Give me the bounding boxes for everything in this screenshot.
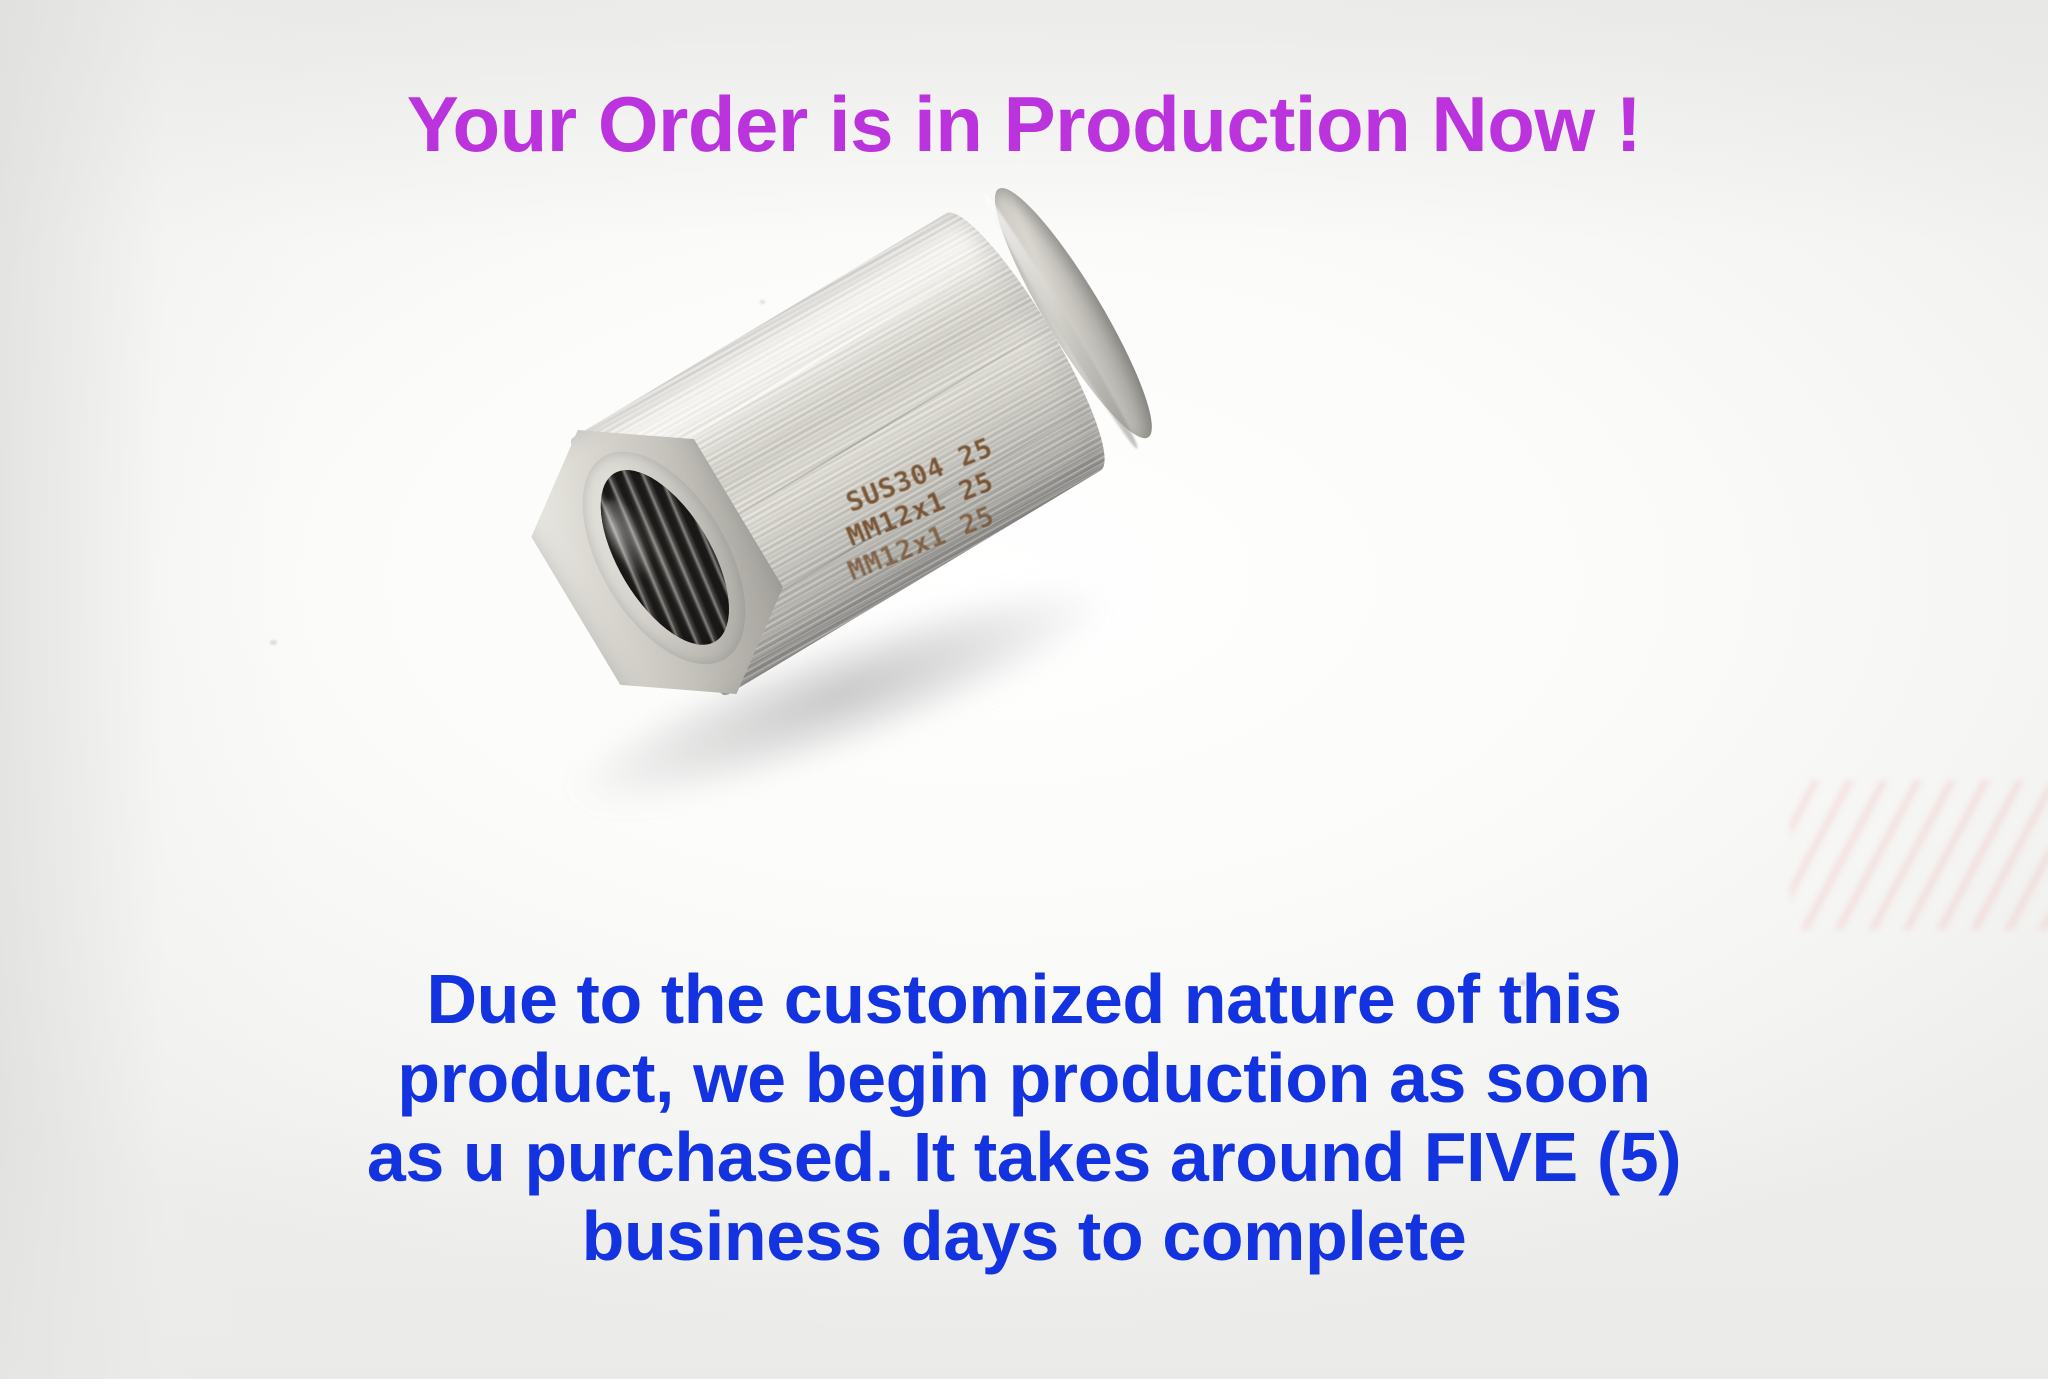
promo-message-line: product, we begin production as soon bbox=[0, 1039, 2048, 1118]
promo-message-line: Due to the customized nature of this bbox=[0, 960, 2048, 1039]
promo-banner: Your Order is in Production Now ! bbox=[0, 0, 2048, 1379]
page-title: Your Order is in Production Now ! bbox=[0, 84, 2048, 166]
promo-message: Due to the customized nature of this pro… bbox=[0, 960, 2048, 1276]
promo-message-line: business days to complete bbox=[0, 1197, 2048, 1276]
product-photo: SUS304 25 MM12x1 25 MM12x1 25 bbox=[520, 225, 1140, 715]
background-speck bbox=[270, 640, 277, 645]
promo-message-line: as u purchased. It takes around FIVE (5) bbox=[0, 1118, 2048, 1197]
background-red-smudge bbox=[1790, 780, 2048, 930]
